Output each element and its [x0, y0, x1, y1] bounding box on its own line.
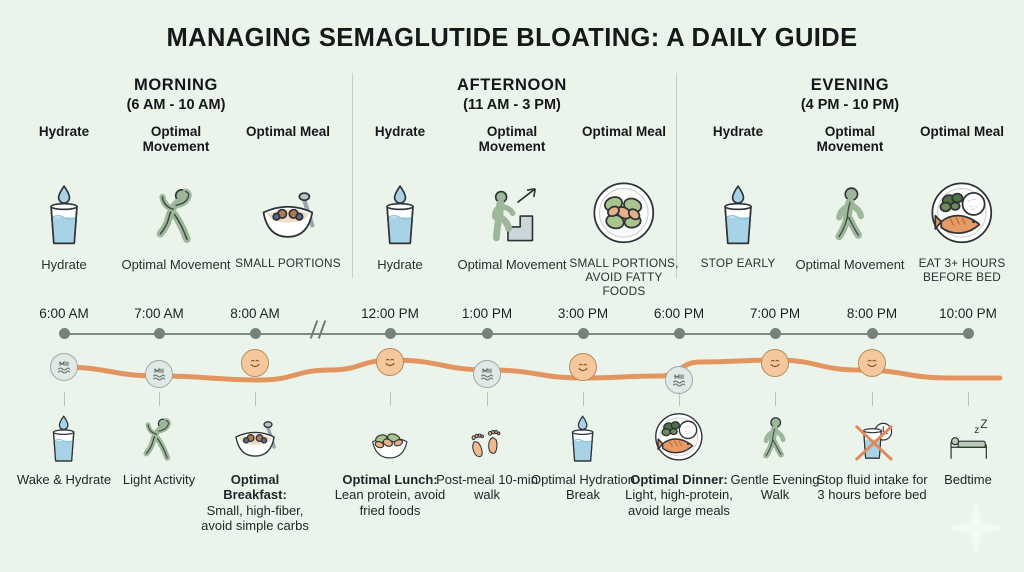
- timeline-tick-label: 7:00 PM: [750, 306, 800, 321]
- timeline-tick-label: 7:00 AM: [134, 306, 184, 321]
- section-header-morning: MORNING(6 AM - 10 AM): [46, 76, 306, 113]
- card-header: Hydrate: [8, 124, 120, 156]
- timeline-tick-dot: [963, 328, 974, 339]
- star-watermark-icon: [946, 498, 1006, 558]
- card-caption: Optimal Movement: [120, 257, 232, 272]
- timeline-tick-label: 8:00 PM: [847, 306, 897, 321]
- wave-badge-icon: [473, 360, 501, 388]
- event-text: Lean protein, avoid fried foods: [335, 487, 446, 517]
- timeline-tick-dot: [770, 328, 781, 339]
- panel-card-walking-person: Optimal Movement Optimal Movement: [794, 124, 906, 272]
- smile-badge-icon: [569, 353, 597, 381]
- card-caption: STOP EARLY: [682, 257, 794, 271]
- event-label: Optimal Breakfast:Small, high-fiber, avo…: [199, 472, 311, 533]
- event-text: Small, high-fiber, avoid simple carbs: [201, 503, 309, 533]
- timeline-tick-dot: [674, 328, 685, 339]
- card-caption: SMALL PORTIONS: [232, 257, 344, 271]
- card-header: Optimal Meal: [568, 124, 680, 156]
- timeline-tick-label: 8:00 AM: [230, 306, 280, 321]
- card-caption: Optimal Movement: [794, 257, 906, 272]
- card-header: Optimal Movement: [794, 124, 906, 156]
- panel-card-oatmeal-bowl: Optimal Meal SMALL PORTIONS: [232, 124, 344, 271]
- smile-badge-icon: [858, 349, 886, 377]
- salad-bowl-icon: [334, 404, 446, 466]
- fish-rice-plate-icon: [906, 158, 1018, 250]
- event-text: Light Activity: [123, 472, 195, 487]
- timeline-tick-dot: [250, 328, 261, 339]
- card-caption: Hydrate: [8, 257, 120, 272]
- smile-badge-icon: [761, 349, 789, 377]
- card-caption: SMALL PORTIONS, AVOID FATTY FOODS: [568, 257, 680, 298]
- timeline-tick-label: 6:00 PM: [654, 306, 704, 321]
- panel-card-stretching-person: Optimal Movement Optimal Movement: [120, 124, 232, 272]
- timeline-event-3[interactable]: Optimal Breakfast:Small, high-fiber, avo…: [199, 404, 311, 533]
- event-text: Optimal Hydration Break: [531, 472, 635, 502]
- bed-sleep-icon: z Z: [912, 404, 1024, 466]
- card-header: Optimal Movement: [456, 124, 568, 156]
- timeline-tick-label: 3:00 PM: [558, 306, 608, 321]
- event-text: Post-meal 10-min walk: [436, 472, 538, 502]
- timeline-tick-dot: [154, 328, 165, 339]
- water-glass-icon: [8, 158, 120, 250]
- panel-card-stairs-climbing-person: Optimal Movement Optimal Movement: [456, 124, 568, 272]
- card-caption: Hydrate: [344, 257, 456, 272]
- card-header: Hydrate: [682, 124, 794, 156]
- walking-person-icon: [719, 404, 831, 466]
- event-title: Optimal Breakfast:: [199, 472, 311, 503]
- section-name: EVENING: [720, 76, 980, 95]
- section-time-range: (4 PM - 10 PM): [720, 97, 980, 113]
- timeline-tick-dot: [578, 328, 589, 339]
- panel-card-salad-plate: Optimal Meal SMALL PORTIONS, AVOID FATTY…: [568, 124, 680, 298]
- section-header-evening: EVENING(4 PM - 10 PM): [720, 76, 980, 113]
- timeline-event-8[interactable]: Gentle Evening Walk: [719, 404, 831, 503]
- page-title: MANAGING SEMAGLUTIDE BLOATING: A DAILY G…: [0, 24, 1024, 53]
- section-header-afternoon: AFTERNOON(11 AM - 3 PM): [382, 76, 642, 113]
- panel-card-water-glass: Hydrate Hydrate: [8, 124, 120, 272]
- timeline-tick-label: 12:00 PM: [361, 306, 419, 321]
- salad-plate-icon: [568, 158, 680, 250]
- timeline-tick-dot: [867, 328, 878, 339]
- svg-text:Z: Z: [980, 417, 987, 431]
- stairs-climbing-person-icon: [456, 158, 568, 250]
- card-header: Optimal Meal: [906, 124, 1018, 156]
- timeline-tick-dot: [59, 328, 70, 339]
- smile-badge-icon: [241, 349, 269, 377]
- event-label: Gentle Evening Walk: [719, 472, 831, 503]
- water-glass-icon: [344, 158, 456, 250]
- section-name: AFTERNOON: [382, 76, 642, 95]
- stretching-person-icon: [120, 158, 232, 250]
- event-text: Gentle Evening Walk: [731, 472, 820, 502]
- walking-person-icon: [794, 158, 906, 250]
- card-header: Hydrate: [344, 124, 456, 156]
- timeline-event-10[interactable]: z Z Bedtime: [912, 404, 1024, 487]
- oatmeal-bowl-icon: [232, 158, 344, 250]
- section-time-range: (6 AM - 10 AM): [46, 97, 306, 113]
- timeline-tick-dot: [385, 328, 396, 339]
- panel-card-water-glass: Hydrate Hydrate: [344, 124, 456, 272]
- timeline-event-4[interactable]: Optimal Lunch:Lean protein, avoid fried …: [334, 404, 446, 518]
- event-text: Wake & Hydrate: [17, 472, 111, 487]
- timeline-tick-dot: [482, 328, 493, 339]
- smile-badge-icon: [376, 348, 404, 376]
- section-name: MORNING: [46, 76, 306, 95]
- event-label: Optimal Lunch:Lean protein, avoid fried …: [334, 472, 446, 518]
- water-glass-icon: [682, 158, 794, 250]
- card-caption: Optimal Movement: [456, 257, 568, 272]
- section-time-range: (11 AM - 3 PM): [382, 97, 642, 113]
- timeline-tick-label: 6:00 AM: [39, 306, 89, 321]
- panel-card-water-glass: Hydrate STOP EARLY: [682, 124, 794, 271]
- event-label: Bedtime: [912, 472, 1024, 487]
- card-header: Optimal Movement: [120, 124, 232, 156]
- card-header: Optimal Meal: [232, 124, 344, 156]
- card-caption: EAT 3+ HOURS BEFORE BED: [906, 257, 1018, 285]
- timeline-tick-label: 10:00 PM: [939, 306, 997, 321]
- wave-badge-icon: [145, 360, 173, 388]
- wave-badge-icon: [665, 366, 693, 394]
- infographic-canvas: MANAGING SEMAGLUTIDE BLOATING: A DAILY G…: [0, 0, 1024, 572]
- wave-badge-icon: [50, 353, 78, 381]
- oatmeal-bowl-icon: [199, 404, 311, 466]
- event-text: Light, high-protein, avoid large meals: [625, 487, 733, 517]
- timeline-tick-label: 1:00 PM: [462, 306, 512, 321]
- timeline-axis: [64, 333, 968, 335]
- event-title: Optimal Lunch:: [334, 472, 446, 487]
- panel-card-fish-rice-plate: Optimal Meal EAT 3+ HOURS BEFORE BED: [906, 124, 1018, 285]
- event-text: Stop fluid intake for 3 hours before bed: [816, 472, 927, 502]
- svg-text:z: z: [974, 425, 979, 436]
- event-text: Bedtime: [944, 472, 992, 487]
